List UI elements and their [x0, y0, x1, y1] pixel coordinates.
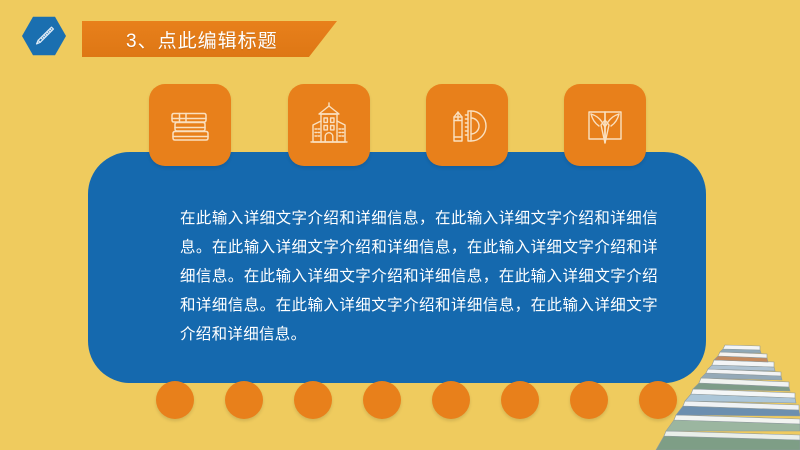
icon-tile-school-building[interactable]	[288, 84, 370, 166]
pencil-icon	[31, 23, 57, 49]
dot-indicator[interactable]	[639, 381, 677, 419]
dot-indicator[interactable]	[294, 381, 332, 419]
dot-indicator[interactable]	[501, 381, 539, 419]
panel-body-text: 在此输入详细文字介绍和详细信息，在此输入详细文字介绍和详细信息。在此输入详细文字…	[180, 204, 658, 349]
dot-row	[0, 381, 800, 421]
title-banner: 3、点此编辑标题	[82, 21, 337, 57]
dot-indicator[interactable]	[156, 381, 194, 419]
slide-canvas: 3、点此编辑标题 在此输入详细文字介绍和详细信息，在此输入详细文字介绍和详细信息…	[0, 0, 800, 450]
page-title: 3、点此编辑标题	[126, 26, 278, 53]
icon-tile-open-book[interactable]	[564, 84, 646, 166]
open-book-icon	[579, 99, 631, 151]
dot-indicator[interactable]	[225, 381, 263, 419]
dot-indicator[interactable]	[570, 381, 608, 419]
dot-indicator[interactable]	[432, 381, 470, 419]
school-building-icon	[303, 99, 355, 151]
pencil-ruler-icon	[441, 99, 493, 151]
icon-tile-book-stack[interactable]	[149, 84, 231, 166]
content-panel: 在此输入详细文字介绍和详细信息，在此输入详细文字介绍和详细信息。在此输入详细文字…	[88, 152, 706, 383]
icon-tile-pencil-ruler[interactable]	[426, 84, 508, 166]
dot-indicator[interactable]	[363, 381, 401, 419]
hexagon-badge	[22, 16, 66, 56]
book-stack-icon	[164, 99, 216, 151]
icon-tile-row	[0, 84, 800, 168]
